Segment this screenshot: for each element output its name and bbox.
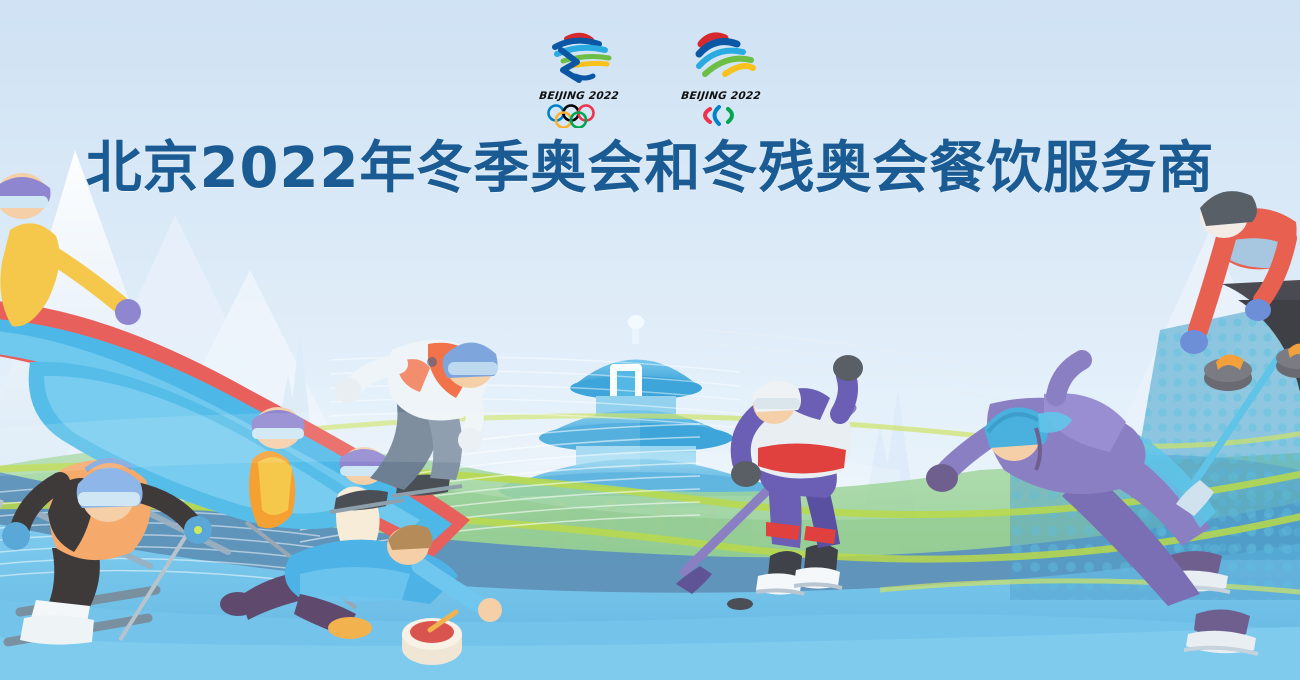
olympic-winter-mark-icon: [533, 30, 625, 88]
olympic-emblem-wordmark: BEIJING 2022: [532, 90, 625, 102]
paralympic-emblem-wordmark: BEIJING 2022: [674, 90, 767, 102]
beijing-2022-olympic-emblem: BEIJING 2022: [533, 30, 625, 128]
page-title: 北京2022年冬季奥会和冬残奥会餐饮服务商: [0, 140, 1300, 199]
beijing-2022-catering-banner: BEIJING 2022: [0, 0, 1300, 680]
emblem-row: BEIJING 2022: [0, 30, 1300, 128]
olympic-rings-icon: [544, 104, 614, 128]
paralympic-winter-mark-icon: [675, 30, 767, 88]
agitos-icon: [686, 104, 756, 128]
beijing-2022-paralympic-emblem: BEIJING 2022: [675, 30, 767, 128]
